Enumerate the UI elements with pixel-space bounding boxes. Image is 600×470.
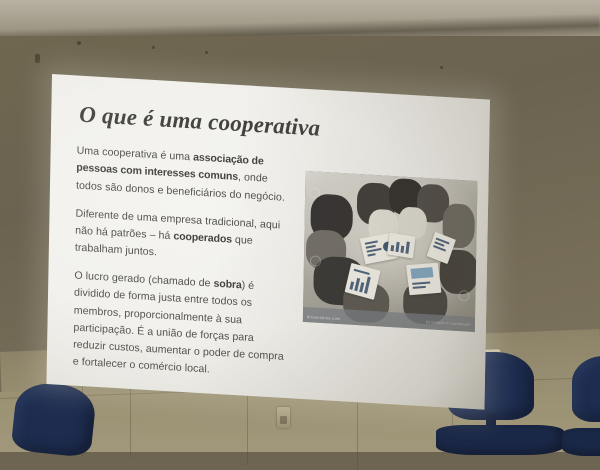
wall-panel-seam	[130, 380, 131, 458]
chair-left	[4, 384, 108, 454]
wall-panel-seam	[357, 392, 358, 470]
wall-mark	[35, 54, 40, 63]
chart-paper	[406, 263, 441, 296]
slide-body: Uma cooperativa é uma associação de pess…	[73, 143, 290, 383]
wall-panel-seam	[247, 387, 248, 465]
chair-seat	[436, 425, 564, 455]
wall-mark	[205, 51, 208, 54]
chair-right	[566, 356, 600, 450]
slide-title: O que é uma cooperativa	[79, 102, 465, 150]
chair-seat	[562, 428, 600, 456]
projected-slide[interactable]: O que é uma cooperativa Uma cooperativa …	[46, 74, 490, 410]
chart-paper	[387, 233, 416, 259]
wall-mark	[77, 41, 81, 45]
chair-backrest	[572, 356, 600, 422]
slide-paragraph-2: Diferente de uma empresa tradicional, aq…	[75, 205, 289, 269]
photo-corner-mark	[310, 255, 321, 267]
photo-corner-mark	[309, 187, 320, 199]
wall-mark	[152, 46, 155, 49]
wall-mark	[440, 66, 443, 69]
slide-paragraph-3: O lucro gerado (chamado de sobra) é divi…	[73, 268, 288, 383]
wall-outlet[interactable]	[277, 407, 290, 428]
slide-photo: dreamstime.com ID 000000 © Contributor	[303, 171, 478, 332]
chair-backrest	[11, 380, 98, 458]
slide-paragraph-1: Uma cooperativa é uma associação de pess…	[76, 143, 290, 207]
photo-corner-mark	[458, 290, 469, 302]
